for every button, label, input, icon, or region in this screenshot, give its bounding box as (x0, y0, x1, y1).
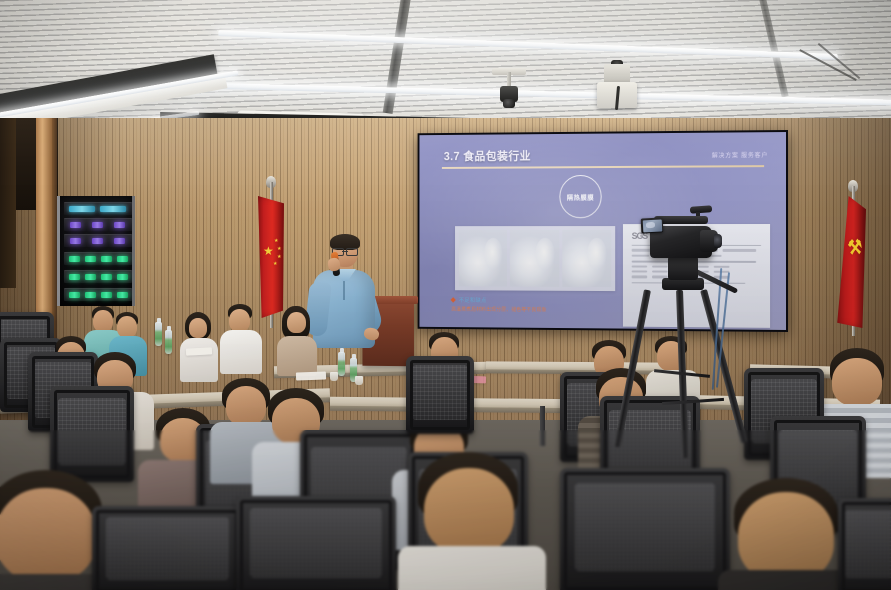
slide-title: 3.7 食品包装行业 (444, 148, 531, 164)
person-head (0, 488, 96, 582)
rack-led-indicator (69, 274, 80, 280)
camera-lcd-screen (642, 219, 662, 232)
rack-led-indicator (85, 292, 96, 298)
office-chair[interactable] (560, 468, 730, 590)
office-chair[interactable] (92, 506, 242, 590)
doc-cell (652, 265, 668, 267)
flag-star-icon: ★ (277, 254, 281, 260)
ceiling-camera-lens-icon (503, 99, 515, 108)
slide-title-rule (442, 165, 764, 169)
rack-led-indicator (117, 256, 128, 262)
doc-cell (723, 249, 757, 251)
doc-cell (632, 254, 649, 256)
office-chair[interactable] (50, 386, 134, 482)
hammer-sickle-icon: ⚒ (847, 238, 863, 259)
rack-unit (64, 252, 132, 265)
chair-frame (50, 386, 134, 482)
rack-unit (64, 288, 132, 301)
rack-led-indicator (117, 274, 128, 280)
rack-unit (64, 234, 132, 247)
audience-member (224, 304, 258, 366)
slide-surface: 3.7 食品包装行业 解决方案 服务客户 隔热膜膜 SGS (419, 132, 786, 330)
person-head (189, 318, 207, 338)
rack-led-indicator (101, 256, 112, 262)
ceiling (0, 0, 891, 132)
rack-led-indicator (101, 274, 112, 280)
rack-led-indicator (70, 222, 81, 228)
ceiling-shading (0, 0, 891, 132)
table-leg (540, 406, 545, 446)
audience-member (280, 306, 314, 368)
flag-star-icon: ★ (273, 261, 277, 267)
rack-led-indicator (92, 222, 103, 228)
presenter-shirt-placket (343, 278, 345, 300)
slide-bullet-secondary: 高温蒸煮后材料出现分层、褪色等不良现象 (451, 306, 546, 313)
audience-member-foreground (414, 452, 526, 590)
paper-cup (355, 376, 363, 385)
person-head (424, 468, 514, 554)
chair-frame (406, 356, 474, 434)
conference-room-photo: 3.7 食品包装行业 解决方案 服务客户 隔热膜膜 SGS (0, 0, 891, 590)
water-bottle (338, 352, 345, 376)
office-chair[interactable] (406, 356, 474, 434)
doc-cell (652, 270, 668, 272)
person-torso (277, 336, 317, 376)
rack-led-indicator (114, 222, 125, 228)
office-chair[interactable] (236, 496, 396, 590)
notepad (186, 347, 212, 355)
rack-led-indicator (69, 206, 95, 212)
chair-frame (838, 498, 891, 590)
av-equipment-rack (57, 196, 135, 306)
audience-member (182, 312, 214, 370)
slide-photo-panel (455, 226, 615, 291)
rack-led-indicator (85, 256, 96, 262)
flag-star-icon: ★ (263, 244, 274, 258)
flag-star-icon: ★ (274, 238, 278, 244)
rack-led-indicator (92, 238, 103, 244)
slide-circle-badge: 隔热膜膜 (559, 175, 601, 218)
bullet-diamond-icon (451, 297, 456, 302)
rack-unit (64, 202, 132, 215)
chair-frame (560, 468, 730, 590)
person-head (229, 309, 250, 332)
chair-frame (236, 496, 396, 590)
tripod-head[interactable] (668, 256, 698, 280)
person-head (226, 386, 266, 426)
projector-mount (604, 64, 630, 84)
paper-cup (330, 372, 338, 381)
chair-frame (92, 506, 242, 590)
doc-cell (632, 276, 648, 278)
notepad (296, 371, 326, 380)
camera-lens-icon (714, 234, 722, 248)
rack-unit (64, 270, 132, 283)
rack-led-indicator (101, 292, 112, 298)
slide-photo (510, 230, 559, 287)
presenter (306, 236, 382, 356)
doc-cell (632, 270, 648, 272)
person-head (287, 312, 306, 333)
person-torso (220, 330, 262, 374)
wall-recess-edge (0, 118, 16, 288)
rack-led-indicator (100, 206, 126, 212)
water-bottle (155, 322, 162, 346)
person-head (93, 310, 113, 332)
office-chair[interactable] (838, 498, 891, 590)
rack-unit (64, 218, 132, 231)
person-torso (398, 546, 546, 590)
slide-meta: 解决方案 服务客户 (712, 150, 768, 159)
water-bottle (165, 330, 172, 354)
rack-led-indicator (114, 238, 125, 244)
person-head (117, 316, 137, 338)
camera-lcd-panel[interactable] (641, 217, 664, 233)
rack-led-indicator (85, 274, 96, 280)
rack-led-indicator (117, 292, 128, 298)
person-head (738, 492, 834, 582)
person-head (832, 358, 882, 406)
slide-circle-label: 隔热膜膜 (567, 192, 594, 202)
projection-screen: 3.7 食品包装行业 解决方案 服务客户 隔热膜膜 SGS (418, 130, 788, 332)
doc-cell (632, 265, 648, 267)
slide-bullet-primary: 不足和缺点 (451, 296, 486, 304)
rack-led-indicator (69, 256, 80, 262)
person-torso (180, 338, 218, 382)
bullet-primary-text: 不足和缺点 (459, 296, 487, 304)
slide-photo (562, 230, 611, 287)
audience-member-foreground (730, 478, 846, 590)
flag-star-icon: ★ (277, 246, 281, 252)
rack-led-indicator (70, 238, 81, 244)
slide-photo (459, 230, 507, 287)
rack-led-indicator (69, 292, 80, 298)
